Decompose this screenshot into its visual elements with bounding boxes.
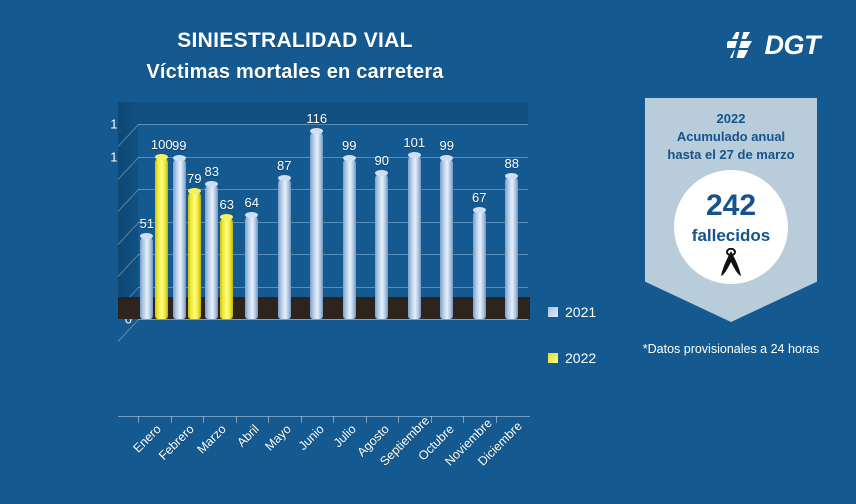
dgt-road-mark-icon: [727, 30, 761, 60]
bar-cap: [245, 212, 258, 218]
legend-label-2022: 2022: [565, 351, 596, 365]
bar-value-label: 116: [306, 111, 327, 126]
summary-circle: 242 fallecidos: [674, 170, 788, 284]
gridline: [138, 319, 528, 320]
legend-item-2022: 2022: [548, 346, 596, 370]
bar: [220, 217, 233, 319]
legend-label-2021: 2021: [565, 305, 596, 319]
bar-cap: [408, 152, 421, 158]
bar: [440, 158, 453, 319]
dgt-logo: DGT: [727, 30, 821, 60]
bar-cap: [140, 233, 153, 239]
bar-cap: [505, 173, 518, 179]
bar-value-label: 79: [187, 171, 201, 186]
bar-value-label: 100: [151, 137, 173, 152]
summary-line-2: Acumulado anual: [645, 128, 817, 146]
bar: [188, 191, 201, 319]
legend-swatch-2022-icon: [548, 353, 558, 363]
x-axis-labels: EneroFebreroMarzoAbrilMayoJunioJulioAgos…: [0, 422, 630, 504]
bar-cap: [205, 181, 218, 187]
bar-value-label: 83: [205, 164, 219, 179]
bar-cap: [155, 154, 168, 160]
bar: [173, 158, 186, 319]
bar-cap: [220, 214, 233, 220]
bar-cap: [343, 155, 356, 161]
bar: [140, 236, 153, 319]
summary-line-3: hasta el 27 de marzo: [645, 146, 817, 164]
black-mourning-ribbon-icon: [718, 248, 744, 278]
summary-shield-panel: 2022 Acumulado anual hasta el 27 de marz…: [645, 98, 817, 322]
bar-value-label: 51: [140, 216, 154, 231]
bar-cap: [173, 155, 186, 161]
chart-legend: 2021 2022: [548, 300, 596, 392]
bar-chart: 020406080100120 511009979836364871169990…: [0, 96, 630, 408]
bar: [408, 155, 421, 319]
bar: [473, 210, 486, 319]
fatality-count-label: fallecidos: [674, 226, 788, 246]
shield-heading: 2022 Acumulado anual hasta el 27 de marz…: [645, 110, 817, 164]
bar: [205, 184, 218, 319]
bar-cap: [278, 175, 291, 181]
legend-swatch-2021-icon: [548, 307, 558, 317]
bar-cap: [375, 170, 388, 176]
bar: [278, 178, 291, 319]
title-line-1: SINIESTRALIDAD VIAL: [60, 28, 530, 54]
bar-cap: [310, 128, 323, 134]
infographic-root: SINIESTRALIDAD VIAL Víctimas mortales en…: [0, 0, 856, 408]
bar: [375, 173, 388, 319]
bar-value-label: 63: [220, 197, 234, 212]
bar: [505, 176, 518, 319]
footnote: *Datos provisionales a 24 horas: [636, 340, 826, 358]
bar-value-label: 99: [172, 138, 186, 153]
bar-value-label: 99: [342, 138, 356, 153]
fatality-count: 242: [674, 190, 788, 222]
bar: [310, 131, 323, 320]
bars-container: [138, 124, 528, 319]
bar-value-label: 101: [403, 135, 425, 150]
bar-value-label: 87: [277, 158, 291, 173]
bar-value-label: 64: [245, 195, 259, 210]
bar-value-label: 67: [472, 190, 486, 205]
bar-value-label: 99: [440, 138, 454, 153]
summary-year: 2022: [645, 110, 817, 128]
bar: [155, 157, 168, 320]
plot-area: 511009979836364871169990101996788: [138, 124, 528, 319]
bar-cap: [473, 207, 486, 213]
bar-cap: [440, 155, 453, 161]
title-line-2: Víctimas mortales en carretera: [60, 59, 530, 85]
bar-value-label: 88: [505, 156, 519, 171]
legend-item-2021: 2021: [548, 300, 596, 324]
bar-cap: [188, 188, 201, 194]
bar: [343, 158, 356, 319]
page-title: SINIESTRALIDAD VIAL Víctimas mortales en…: [60, 28, 530, 85]
dgt-logo-text: DGT: [765, 30, 821, 60]
bar: [245, 215, 258, 319]
bar-value-label: 90: [375, 153, 389, 168]
